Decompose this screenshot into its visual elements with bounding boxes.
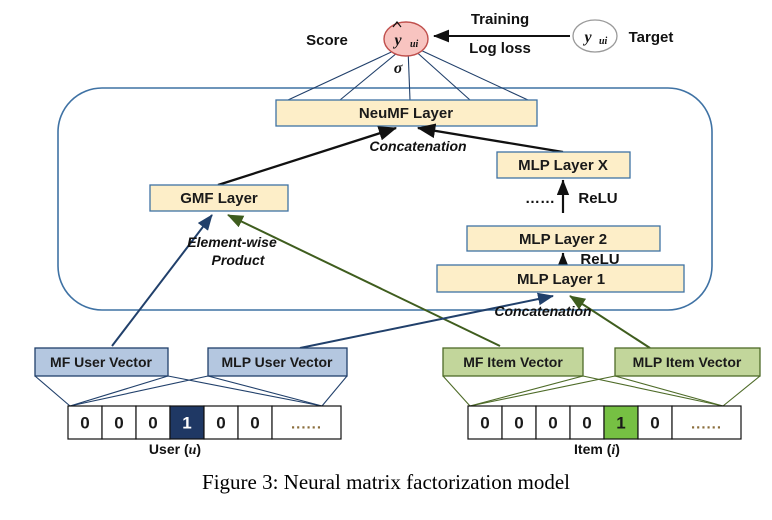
neural-mf-diagram: y ui Score σ Training Log loss y ui Targ… xyxy=(0,0,772,520)
mlp-layer-2-label: MLP Layer 2 xyxy=(519,231,607,248)
one-hot-cell-value: 0 xyxy=(216,414,225,433)
neumf-layer-label: NeuMF Layer xyxy=(359,105,453,122)
figure-caption: Figure 3: Neural matrix factorization mo… xyxy=(0,470,772,495)
one-hot-cell-value: ...... xyxy=(291,416,322,433)
mlp-user-vector-label: MLP User Vector xyxy=(221,354,333,370)
training-loss-line1: Training xyxy=(471,11,529,28)
one-hot-cell-value: 0 xyxy=(148,414,157,433)
gmf-to-neumf-arrow xyxy=(218,128,396,185)
one-hot-cell-value: 0 xyxy=(650,414,659,433)
score-label: Score xyxy=(306,32,348,49)
figure-container: y ui Score σ Training Log loss y ui Targ… xyxy=(0,0,772,520)
concatenation-top-label: Concatenation xyxy=(369,138,466,154)
item-embedding-connectors xyxy=(443,376,760,406)
mlp-item-vector-label: MLP Item Vector xyxy=(633,354,742,370)
mlp-layer-x-label: MLP Layer X xyxy=(518,157,608,174)
item-one-hot-vector: 000010...... xyxy=(468,406,741,439)
training-loss-line2: Log loss xyxy=(469,40,531,57)
one-hot-cell-value: 0 xyxy=(114,414,123,433)
score-node-symbol: y xyxy=(392,32,402,49)
element-wise-label-line2: Product xyxy=(212,252,266,268)
mf-user-vector-label: MF User Vector xyxy=(50,354,152,370)
target-label: Target xyxy=(629,29,674,46)
one-hot-cell-value: 1 xyxy=(616,414,625,433)
one-hot-cell-value: ...... xyxy=(691,416,722,433)
target-node-subscript: ui xyxy=(599,36,608,47)
sigma-activation-label: σ xyxy=(394,60,403,77)
element-wise-label-line1: Element-wise xyxy=(187,234,277,250)
one-hot-cell-value: 0 xyxy=(514,414,523,433)
user-input-label: User (u) xyxy=(149,441,201,458)
score-node xyxy=(384,22,428,56)
one-hot-cell-value: 1 xyxy=(182,414,191,433)
item-input-label: Item (i) xyxy=(574,441,620,458)
user-embedding-connectors xyxy=(35,376,347,406)
one-hot-cell-value: 0 xyxy=(548,414,557,433)
relu-dots-label: …… xyxy=(525,190,555,207)
user-one-hot-vector: 000100...... xyxy=(68,406,341,439)
one-hot-cell-value: 0 xyxy=(250,414,259,433)
target-node-symbol: y xyxy=(582,29,592,46)
gmf-layer-label: GMF Layer xyxy=(180,190,258,207)
mlp-layer-1-label: MLP Layer 1 xyxy=(517,271,605,288)
score-node-subscript: ui xyxy=(410,39,419,50)
mf-item-vector-label: MF Item Vector xyxy=(463,354,563,370)
concatenation-bottom-label: Concatenation xyxy=(494,303,591,319)
one-hot-cell-value: 0 xyxy=(80,414,89,433)
target-node xyxy=(573,20,617,52)
one-hot-cell-value: 0 xyxy=(582,414,591,433)
one-hot-cell-value: 0 xyxy=(480,414,489,433)
relu-upper-label: ReLU xyxy=(578,190,617,207)
